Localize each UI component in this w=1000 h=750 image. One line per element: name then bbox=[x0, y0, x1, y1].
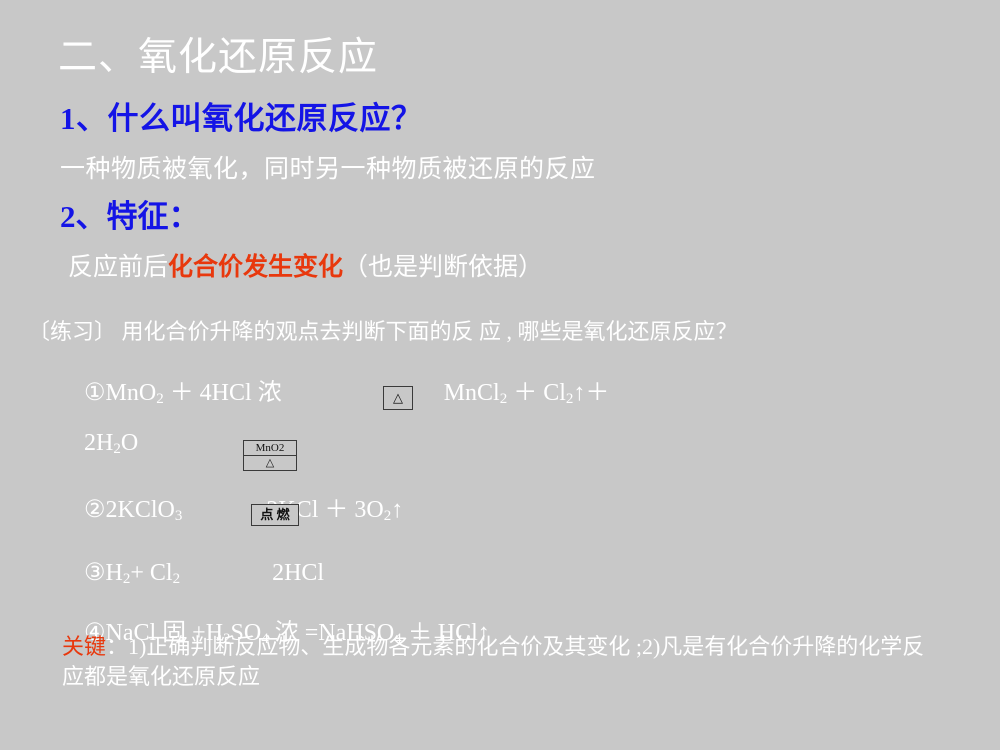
equation-1-continued: 2H2O bbox=[84, 428, 138, 464]
key-points: 关键：1)正确判断反应物、生成物各元素的化合价及其变化 ;2)凡是有化合价升降的… bbox=[62, 632, 942, 692]
catalyst-label: MnO2 bbox=[244, 441, 296, 456]
answer-2-highlight: 化合价发生变化 bbox=[168, 254, 343, 281]
equation-2: ②2KClO3 2KCl ＋ 3O2↑ bbox=[84, 495, 403, 531]
equation-1-left: ①MnO2 ＋ 4HCl 浓 bbox=[84, 380, 282, 406]
heat-label: △ bbox=[244, 456, 296, 470]
question-2: 2、特征： bbox=[60, 198, 200, 236]
equation-3-left: ③H2+ Cl2 bbox=[84, 560, 180, 586]
answer-1: 一种物质被氧化，同时另一种物质被还原的反应 bbox=[60, 154, 596, 186]
answer-2-prefix: 反应前后 bbox=[68, 254, 168, 281]
equation-3: ③H2+ Cl2 2HCl bbox=[84, 558, 324, 594]
exercise-prompt: 〔练习〕 用化合价升降的观点去判断下面的反 应 , 哪些是氧化还原反应？ bbox=[28, 316, 908, 347]
answer-2: 反应前后化合价发生变化（也是判断依据） bbox=[68, 252, 543, 284]
equation-1-right: MnCl2 ＋ Cl2↑＋ bbox=[444, 380, 610, 406]
key-text: ：1)正确判断反应物、生成物各元素的化合价及其变化 ;2)凡是有化合价升降的化学… bbox=[62, 634, 924, 689]
slide-canvas: 二、氧化还原反应 1、什么叫氧化还原反应？ 一种物质被氧化，同时另一种物质被还原… bbox=[0, 0, 1000, 750]
equation-2-left: ②2KClO3 bbox=[84, 497, 182, 523]
equation-1: ①MnO2 ＋ 4HCl 浓 MnCl2 ＋ Cl2↑＋ bbox=[84, 378, 609, 414]
key-label: 关键 bbox=[62, 634, 106, 659]
slide-title: 二、氧化还原反应 bbox=[58, 34, 378, 82]
reaction-condition-ignite-icon: 点 燃 bbox=[251, 504, 299, 526]
equation-1-cont-text: 2H2O bbox=[84, 430, 138, 456]
answer-2-suffix: （也是判断依据） bbox=[343, 254, 543, 281]
equation-3-right: 2HCl bbox=[272, 560, 324, 586]
reaction-condition-heat-icon: △ bbox=[383, 386, 413, 410]
reaction-condition-catalyst-icon: MnO2 △ bbox=[243, 440, 297, 471]
question-1: 1、什么叫氧化还原反应？ bbox=[60, 100, 423, 138]
